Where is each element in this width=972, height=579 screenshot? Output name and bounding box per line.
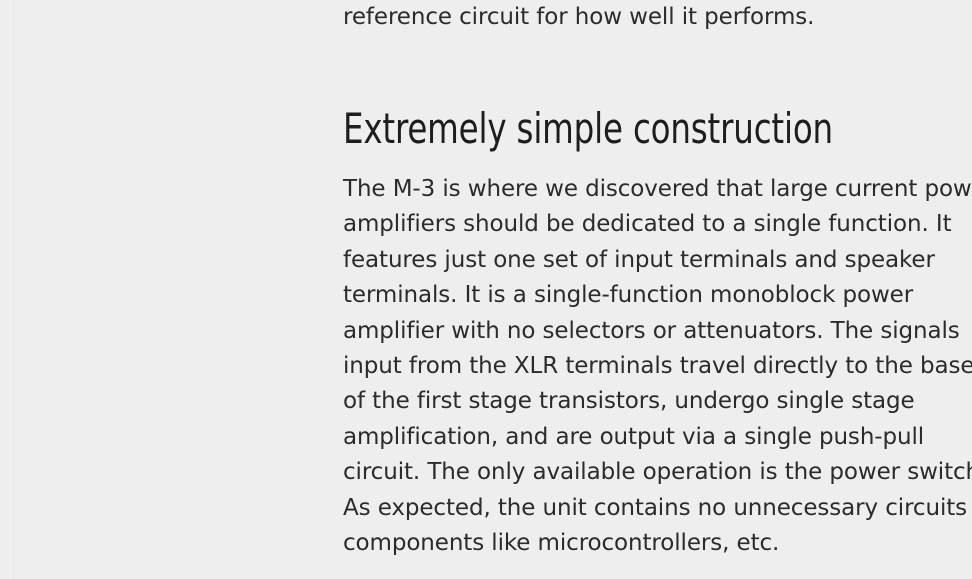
page-viewport: reference circuit for how well it perfor… <box>0 0 972 579</box>
paragraph-continuation-line: reference circuit for how well it perfor… <box>343 0 972 35</box>
page-left-boundary-rule <box>13 0 14 579</box>
section-body-paragraph: The M-3 is where we discovered that larg… <box>343 172 972 561</box>
article-content-column: reference circuit for how well it perfor… <box>343 0 972 579</box>
section-heading: Extremely simple construction <box>343 103 911 155</box>
